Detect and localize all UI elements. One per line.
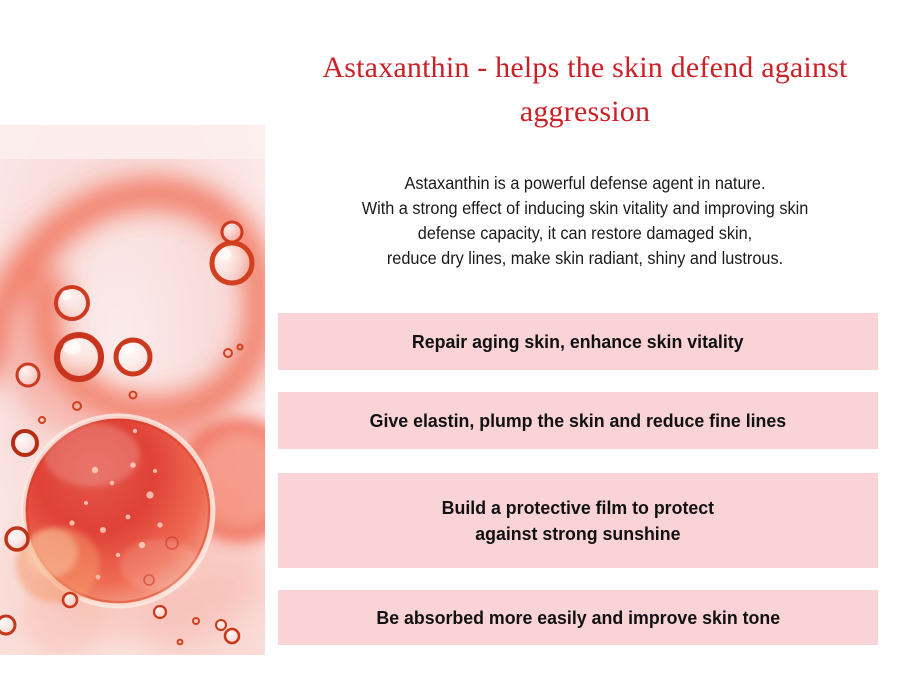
benefit-text: Repair aging skin, enhance skin vitality	[412, 329, 744, 355]
page-title: Astaxanthin - helps the skin defend agai…	[270, 46, 900, 134]
hero-bubbles-image	[0, 125, 265, 655]
benefit-bar-protective-film: Build a protective film to protect again…	[278, 473, 878, 568]
intro-paragraph: Astaxanthin is a powerful defense agent …	[294, 171, 876, 271]
intro-line-3: defense capacity, it can restore damaged…	[294, 221, 876, 246]
benefit-line-2: against strong sunshine	[442, 521, 714, 547]
headline-line-1: Astaxanthin - helps the skin defend	[322, 51, 753, 84]
intro-line-2: With a strong effect of inducing skin vi…	[294, 196, 876, 221]
benefit-bar-give-elastin: Give elastin, plump the skin and reduce …	[278, 392, 878, 449]
bubbles-illustration	[0, 125, 265, 655]
benefit-line-1: Repair aging skin, enhance skin vitality	[412, 329, 744, 355]
benefit-line-1: Give elastin, plump the skin and reduce …	[370, 408, 786, 434]
benefit-text: Give elastin, plump the skin and reduce …	[370, 408, 786, 434]
benefit-bar-absorbed-easily: Be absorbed more easily and improve skin…	[278, 590, 878, 645]
intro-line-4: reduce dry lines, make skin radiant, shi…	[294, 246, 876, 271]
benefit-line-1: Be absorbed more easily and improve skin…	[376, 605, 780, 631]
content-column: Astaxanthin - helps the skin defend agai…	[270, 0, 900, 700]
benefit-text: Be absorbed more easily and improve skin…	[376, 605, 780, 631]
product-info-panel: Astaxanthin - helps the skin defend agai…	[0, 0, 900, 700]
benefit-line-1: Build a protective film to protect	[442, 495, 714, 521]
intro-line-1: Astaxanthin is a powerful defense agent …	[294, 171, 876, 196]
benefit-bar-repair-aging-skin: Repair aging skin, enhance skin vitality	[278, 313, 878, 370]
benefit-text: Build a protective film to protect again…	[442, 495, 714, 547]
